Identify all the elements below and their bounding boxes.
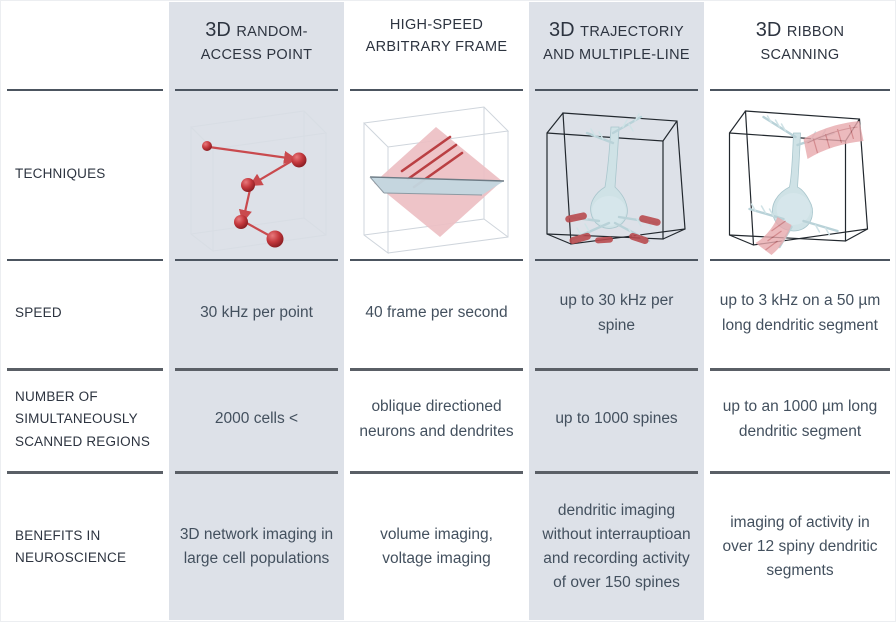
column-header-line2: SCANNING xyxy=(756,45,845,67)
cell-speed-high-speed-arbitrary-frame: 40 frame per second xyxy=(344,259,529,368)
row-label: SPEED xyxy=(15,302,62,324)
cell-regions-high-speed-arbitrary-frame: oblique directioned neurons and dendrite… xyxy=(344,368,529,471)
row-label: BENEFITS IN NEUROSCIENCE xyxy=(15,525,159,570)
column-header-line1: TRAJECTORIY xyxy=(580,24,684,40)
cell-regions-3d-trajectory-multiple-line: up to 1000 spines xyxy=(529,368,704,471)
figure-arbitrary-frame-planes-cube xyxy=(344,89,529,259)
figure-random-access-points-cube xyxy=(169,89,344,259)
cell-speed-random-access-point: 30 kHz per point xyxy=(169,259,344,368)
column-header-line1: HIGH-SPEED xyxy=(366,15,508,37)
row-label: NUMBER OF SIMULTANEOUSLY SCANNED REGIONS xyxy=(15,386,159,453)
column-header-line1: RIBBON xyxy=(787,24,844,40)
cell-benefits-high-speed-arbitrary-frame: volume imaging, voltage imaging xyxy=(344,471,529,623)
row-header-benefits-in-neuroscience: BENEFITS IN NEUROSCIENCE xyxy=(1,471,169,623)
row-header-techniques: TECHNIQUES xyxy=(1,89,169,259)
cell-benefits-3d-ribbon-scanning: imaging of activity in over 12 spiny den… xyxy=(704,471,896,623)
column-header-3d-trajectory-multiple-line: 3D TRAJECTORIY AND MULTIPLE-LINE xyxy=(529,1,704,89)
cell-benefits-3d-trajectory-multiple-line: dendritic imaging without interrauptioan… xyxy=(529,471,704,623)
figure-neuron-trajectory-cube xyxy=(529,89,704,259)
column-header-3d-ribbon-scanning: 3D RIBBON SCANNING xyxy=(704,1,896,89)
cell-regions-3d-ribbon-scanning: up to an 1000 µm long dendritic segment xyxy=(704,368,896,471)
column-header-prefix: 3D xyxy=(549,19,580,41)
cell-speed-3d-trajectory-multiple-line: up to 30 kHz per spine xyxy=(529,259,704,368)
column-header-line1: RANDOM- xyxy=(236,24,307,40)
row-header-speed: SPEED xyxy=(1,259,169,368)
cell-regions-random-access-point: 2000 cells < xyxy=(169,368,344,471)
figure-neuron-ribbon-cube xyxy=(704,89,896,259)
row-header-number-of-simultaneously-scanned-regions: NUMBER OF SIMULTANEOUSLY SCANNED REGIONS xyxy=(1,368,169,471)
column-header-random-access-point: 3D RANDOM- ACCESS POINT xyxy=(169,1,344,89)
column-header-line2: AND MULTIPLE-LINE xyxy=(543,45,690,67)
column-header-prefix: 3D xyxy=(205,19,236,41)
column-header-prefix: 3D xyxy=(756,19,787,41)
column-header-high-speed-arbitrary-frame: HIGH-SPEED ARBITRARY FRAME xyxy=(344,1,529,89)
comparison-table: 3D RANDOM- ACCESS POINT HIGH-SPEED ARBIT… xyxy=(0,0,896,622)
column-header-line2: ARBITRARY FRAME xyxy=(366,37,508,59)
table-corner-cell xyxy=(1,1,169,89)
cell-speed-3d-ribbon-scanning: up to 3 kHz on a 50 µm long dendritic se… xyxy=(704,259,896,368)
cell-benefits-random-access-point: 3D network imaging in large cell populat… xyxy=(169,471,344,623)
column-header-line2: ACCESS POINT xyxy=(201,45,313,67)
row-label: TECHNIQUES xyxy=(15,163,106,185)
